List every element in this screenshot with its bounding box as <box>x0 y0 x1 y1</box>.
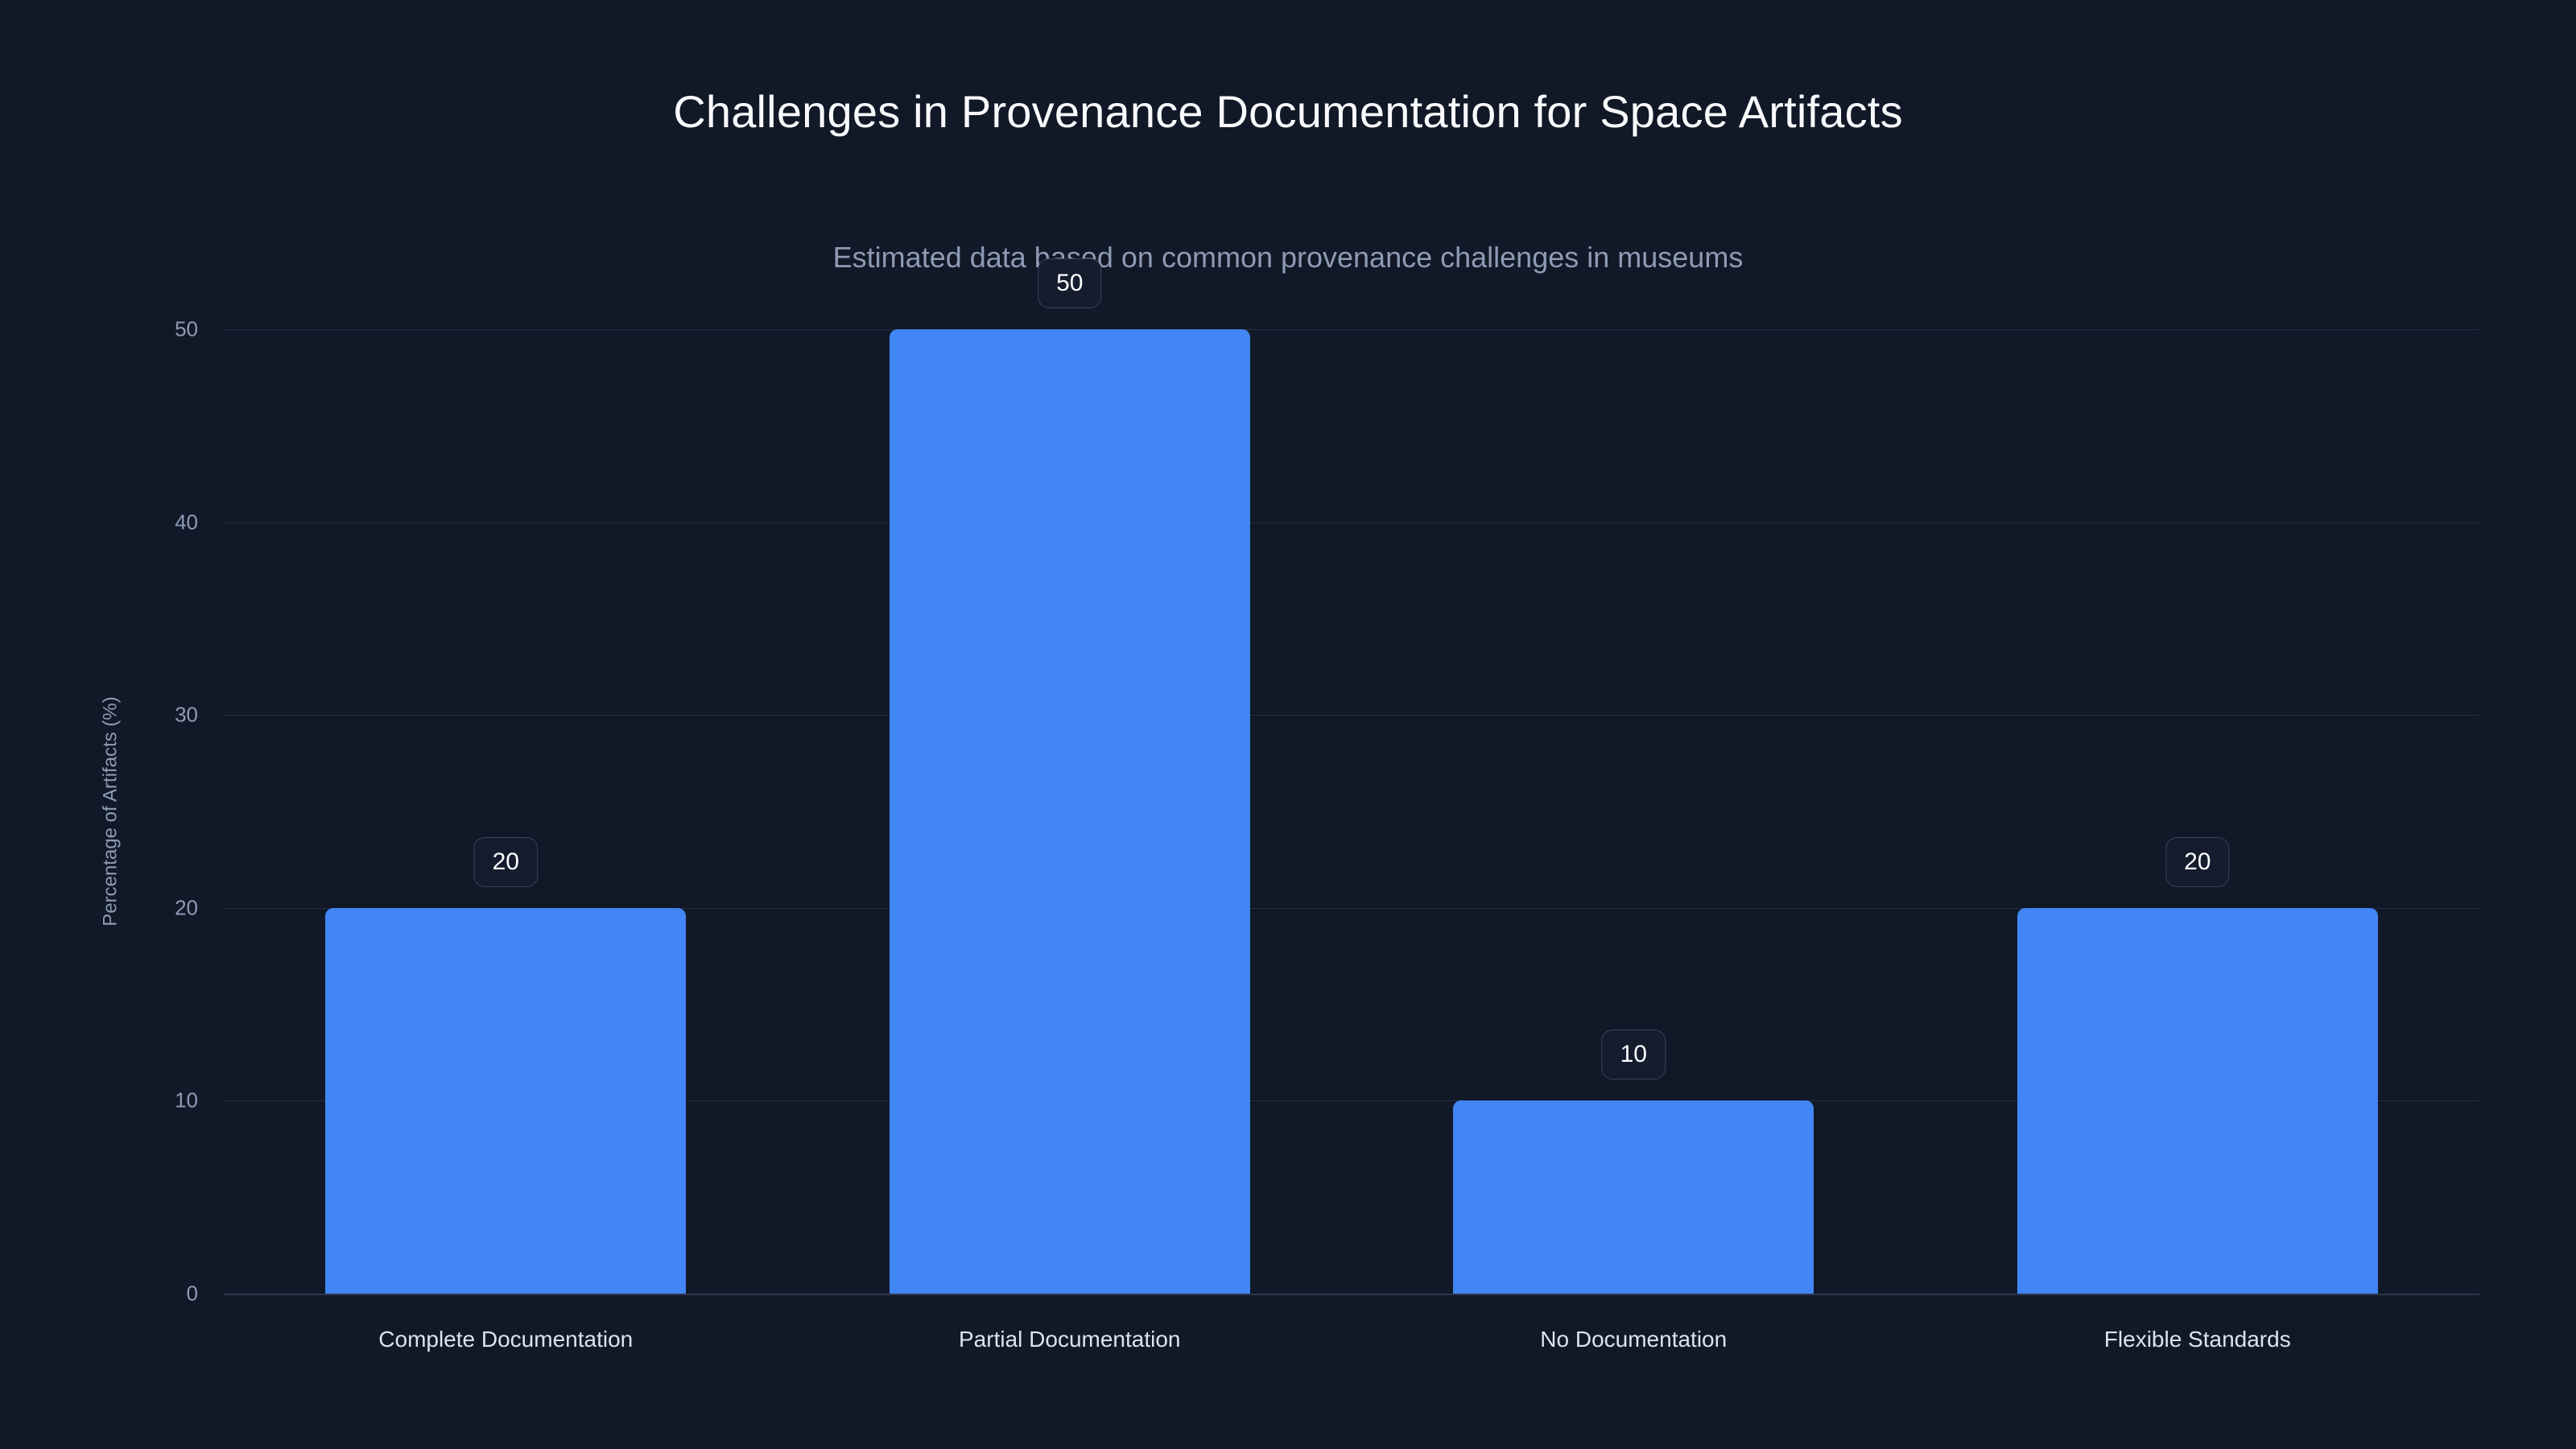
bar[interactable] <box>890 329 1250 1294</box>
chart-subtitle: Estimated data based on common provenanc… <box>0 242 2576 274</box>
y-axis-title: Percentage of Artifacts (%) <box>95 329 127 1294</box>
y-tick-label: 10 <box>150 1088 198 1113</box>
bar[interactable] <box>325 908 686 1294</box>
y-tick-label: 50 <box>150 317 198 342</box>
x-tick-label: Partial Documentation <box>959 1327 1180 1352</box>
bar[interactable] <box>2017 908 2378 1294</box>
chart-title: Challenges in Provenance Documentation f… <box>0 87 2576 137</box>
bar-value-badge: 20 <box>474 837 538 887</box>
y-tick-label: 0 <box>150 1282 198 1307</box>
bar[interactable] <box>1453 1100 1814 1294</box>
y-axis-title-text: Percentage of Artifacts (%) <box>100 696 122 926</box>
bar-value-badge: 50 <box>1038 258 1101 308</box>
plot-area: 20501020 <box>224 329 2479 1294</box>
bars-layer: 20501020 <box>224 329 2479 1294</box>
x-tick-label: Complete Documentation <box>378 1327 633 1352</box>
x-tick-label: No Documentation <box>1540 1327 1727 1352</box>
bar-value-badge: 10 <box>1602 1030 1666 1080</box>
bar-slot <box>890 329 1250 1294</box>
y-tick-label: 20 <box>150 895 198 920</box>
y-tick-label: 30 <box>150 703 198 728</box>
bar-slot <box>1453 329 1814 1294</box>
bar-slot <box>325 329 686 1294</box>
x-axis-tick-labels: Complete DocumentationPartial Documentat… <box>224 1327 2479 1359</box>
y-tick-label: 40 <box>150 510 198 535</box>
y-axis-tick-labels: 01020304050 <box>150 329 198 1294</box>
bar-slot <box>2017 329 2378 1294</box>
bar-value-badge: 20 <box>2165 837 2229 887</box>
x-tick-label: Flexible Standards <box>2104 1327 2291 1352</box>
bar-chart-figure: Challenges in Provenance Documentation f… <box>0 0 2576 1449</box>
x-axis-line <box>224 1294 2479 1295</box>
